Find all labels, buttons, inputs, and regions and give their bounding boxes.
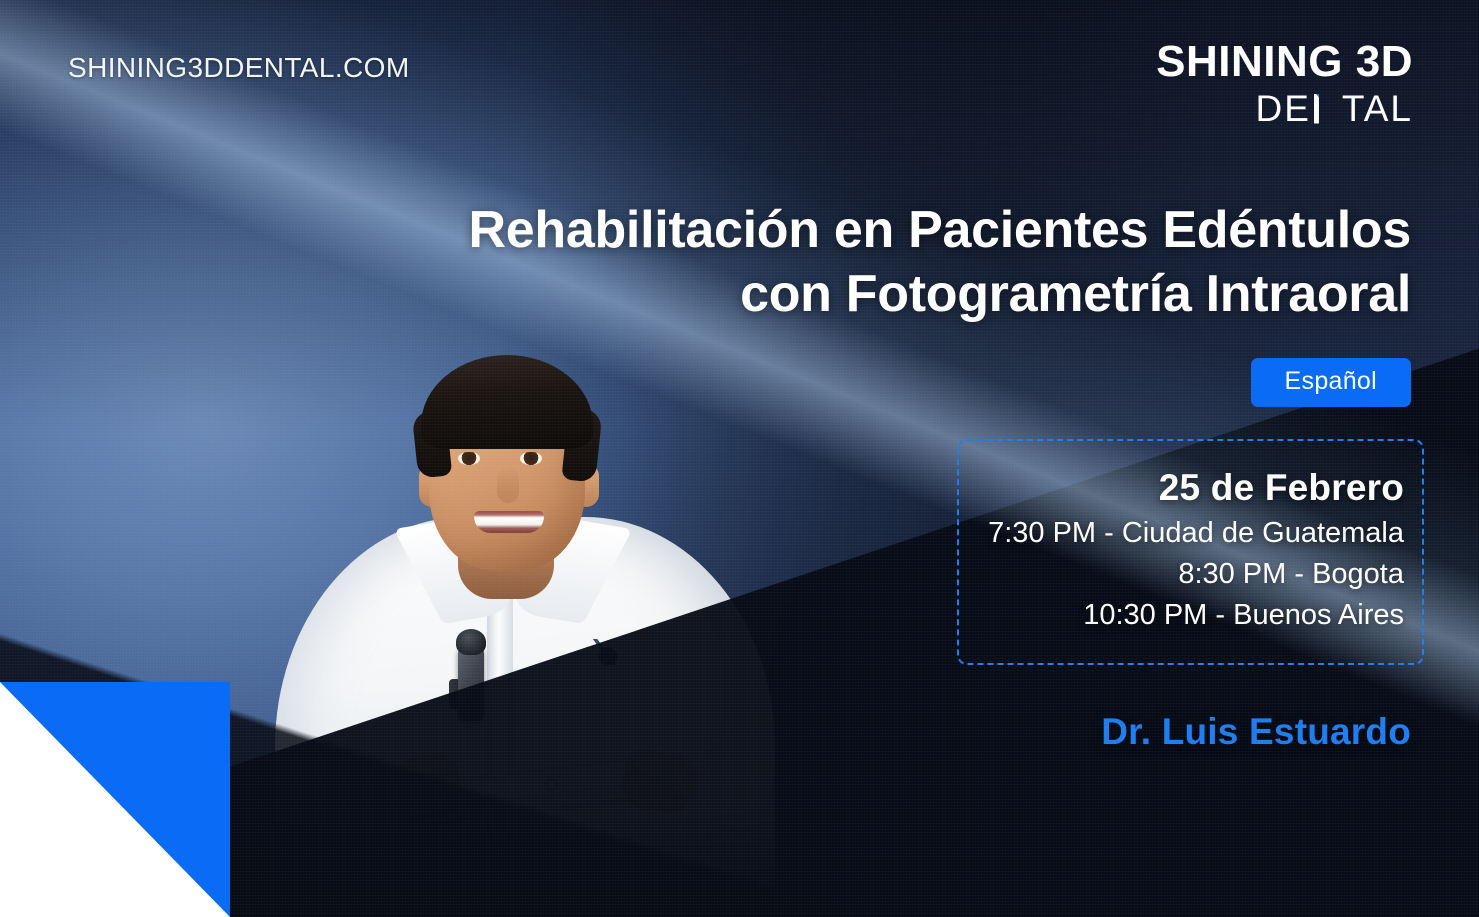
- hair: [421, 355, 593, 449]
- smiling-mouth: [474, 511, 544, 533]
- shining-3d-dental-logo[interactable]: SHINING 3D DE TAL: [1156, 40, 1413, 127]
- site-url[interactable]: SHINING3DDENTAL.COM: [68, 52, 410, 84]
- logo-n-triangle-icon: [1314, 94, 1339, 124]
- timezone-line-3: 10:30 PM - Buenos Aires: [959, 595, 1404, 636]
- logo-dental-de: DE: [1255, 90, 1310, 127]
- eye-right: [520, 452, 542, 465]
- title-line-1: Rehabilitación en Pacientes Edéntulos: [469, 201, 1411, 259]
- logo-n-right-stem: [1334, 94, 1339, 124]
- timezone-line-1: 7:30 PM - Ciudad de Guatemala: [959, 513, 1404, 554]
- title-line-2: con Fotogrametría Intraoral: [401, 262, 1411, 326]
- logo-dental-tal: TAL: [1342, 90, 1413, 127]
- eye-left: [458, 452, 480, 465]
- logo-line-dental: DE TAL: [1156, 90, 1413, 127]
- event-date: 25 de Febrero: [959, 467, 1404, 509]
- page-title: Rehabilitación en Pacientes Edéntulos co…: [401, 198, 1411, 327]
- logo-n-blue-triangle: [1316, 94, 1339, 124]
- speaker-name: Dr. Luis Estuardo: [1101, 711, 1411, 753]
- logo-line-shining-3d: SHINING 3D: [1156, 40, 1413, 84]
- webinar-banner: SHINING3DDENTAL.COM SHINING 3D DE TAL Re…: [0, 0, 1479, 917]
- nose: [497, 467, 519, 503]
- mic-head-icon: [456, 629, 486, 655]
- schedule-box: 25 de Febrero 7:30 PM - Ciudad de Guatem…: [957, 439, 1424, 665]
- timezone-line-2: 8:30 PM - Bogota: [959, 554, 1404, 595]
- language-badge[interactable]: Español: [1251, 358, 1411, 407]
